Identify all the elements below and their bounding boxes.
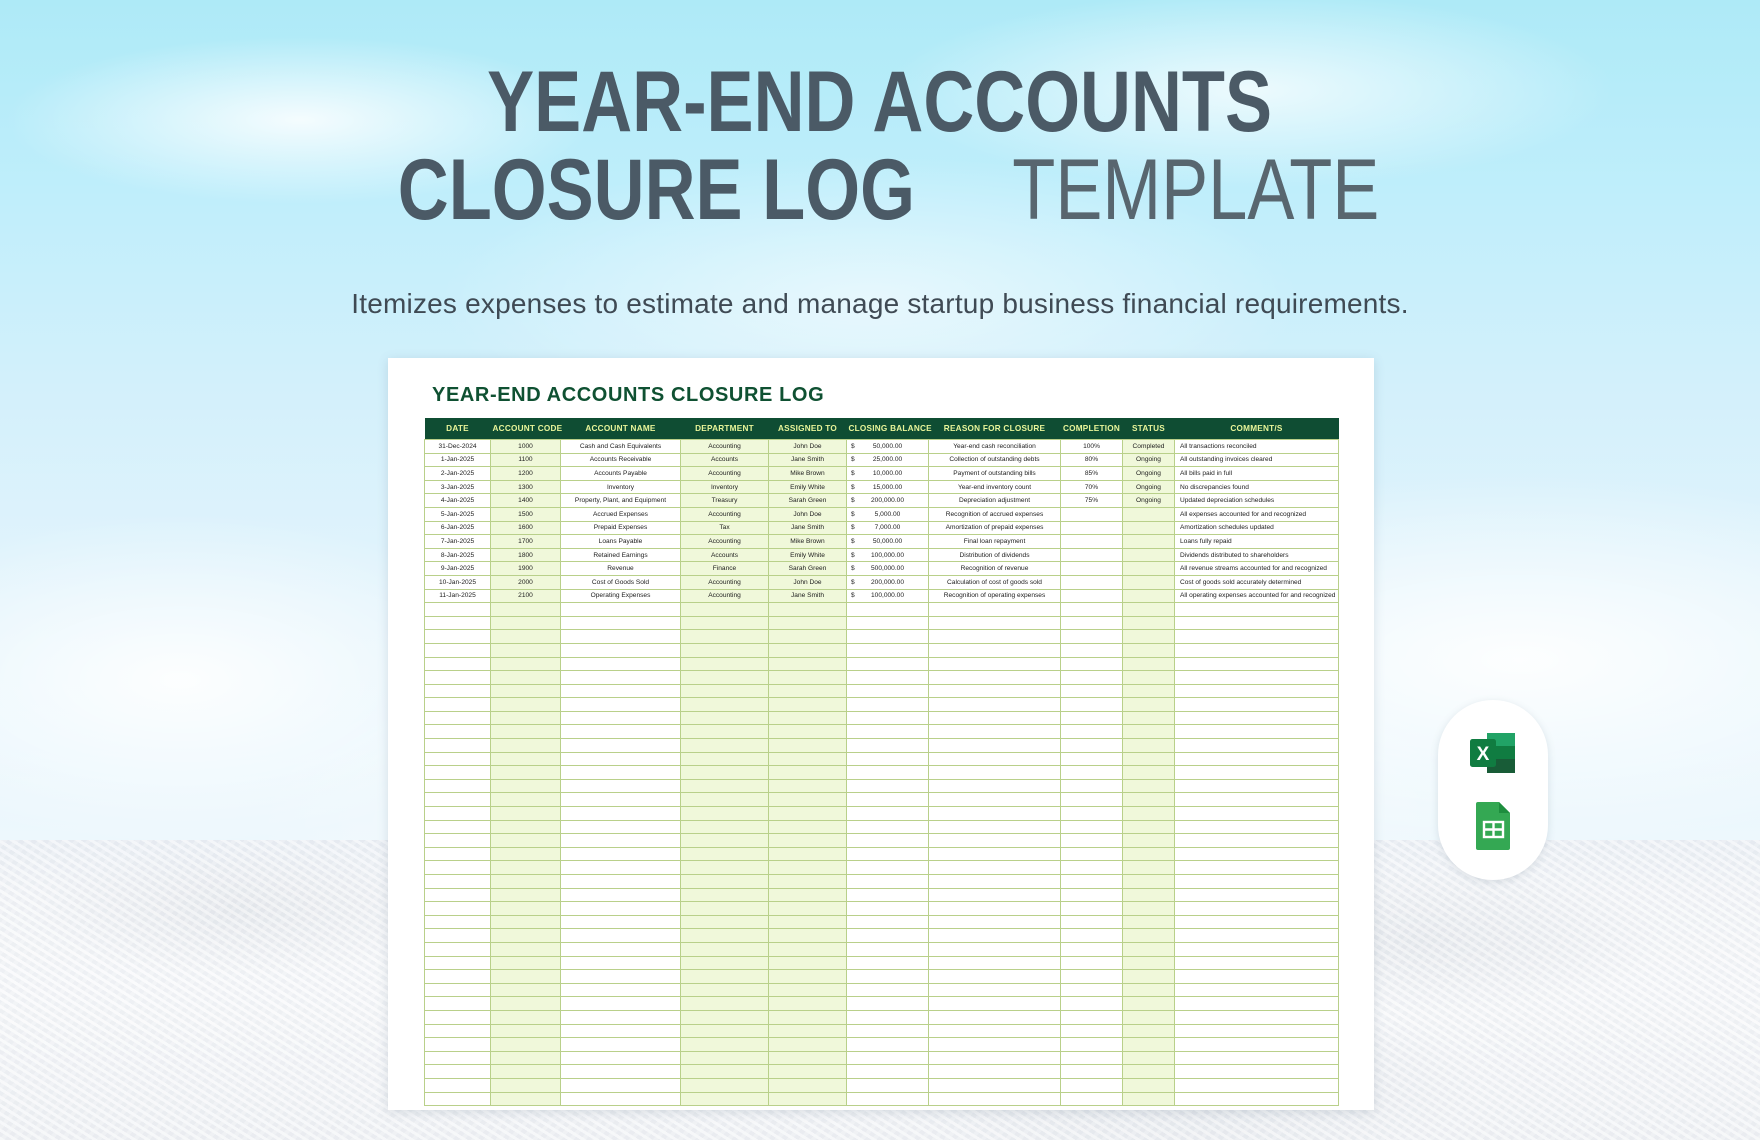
cell-empty	[847, 793, 929, 807]
cell-empty	[681, 956, 769, 970]
cell-closing-balance: $50,000.00	[847, 535, 929, 549]
cell-empty	[929, 834, 1061, 848]
cell-account-name: Accounts Receivable	[561, 453, 681, 467]
cell-reason: Recognition of operating expenses	[929, 589, 1061, 603]
cell-empty	[681, 1010, 769, 1024]
column-header-assigned-to: ASSIGNED TO	[769, 418, 847, 440]
cell-empty	[425, 956, 491, 970]
cell-empty	[425, 888, 491, 902]
currency-symbol: $	[851, 470, 855, 477]
cell-empty	[1061, 942, 1123, 956]
cell-empty	[491, 739, 561, 753]
cell-empty	[1175, 616, 1339, 630]
cell-empty	[681, 1038, 769, 1052]
cell-empty	[1175, 970, 1339, 984]
cell-empty	[425, 902, 491, 916]
cell-reason: Amortization of prepaid expenses	[929, 521, 1061, 535]
cell-empty	[1123, 820, 1175, 834]
cell-department: Tax	[681, 521, 769, 535]
cell-empty	[1175, 861, 1339, 875]
cell-empty	[929, 752, 1061, 766]
cell-empty	[561, 752, 681, 766]
cell-empty	[929, 1078, 1061, 1092]
cell-empty	[1175, 902, 1339, 916]
cell-empty	[491, 671, 561, 685]
table-row: 4-Jan-20251400Property, Plant, and Equip…	[425, 494, 1339, 508]
table-row-empty	[425, 875, 1339, 889]
cell-empty	[769, 766, 847, 780]
cell-empty	[425, 1051, 491, 1065]
table-row-empty	[425, 698, 1339, 712]
cell-status	[1123, 548, 1175, 562]
cell-empty	[561, 1065, 681, 1079]
cell-empty	[847, 616, 929, 630]
cell-empty	[769, 820, 847, 834]
cell-empty	[847, 929, 929, 943]
cell-empty	[681, 875, 769, 889]
cell-empty	[929, 603, 1061, 617]
cell-empty	[425, 725, 491, 739]
cell-empty	[491, 929, 561, 943]
cell-empty	[561, 616, 681, 630]
cell-empty	[681, 834, 769, 848]
cell-account-code: 1900	[491, 562, 561, 576]
cell-empty	[1175, 834, 1339, 848]
cell-department: Treasury	[681, 494, 769, 508]
cell-empty	[1061, 834, 1123, 848]
cell-account-name: Cost of Goods Sold	[561, 575, 681, 589]
cell-empty	[1061, 603, 1123, 617]
cell-empty	[1061, 956, 1123, 970]
column-header-status: STATUS	[1123, 418, 1175, 440]
cell-empty	[491, 643, 561, 657]
cell-empty	[425, 793, 491, 807]
cell-assigned-to: John Doe	[769, 507, 847, 521]
cell-empty	[1123, 1065, 1175, 1079]
cell-empty	[1175, 603, 1339, 617]
cell-empty	[425, 711, 491, 725]
cell-empty	[1175, 1051, 1339, 1065]
page-title-primary: YEAR-END ACCOUNTS	[488, 58, 1273, 146]
table-row: 10-Jan-20252000Cost of Goods SoldAccount…	[425, 575, 1339, 589]
cell-empty	[769, 671, 847, 685]
cell-empty	[847, 970, 929, 984]
cell-empty	[681, 983, 769, 997]
cell-empty	[929, 1024, 1061, 1038]
cell-account-name: Cash and Cash Equivalents	[561, 440, 681, 454]
cell-account-code: 1300	[491, 480, 561, 494]
cell-account-name: Prepaid Expenses	[561, 521, 681, 535]
cell-empty	[1061, 875, 1123, 889]
cell-empty	[1123, 1010, 1175, 1024]
cell-empty	[491, 1024, 561, 1038]
cell-date: 9-Jan-2025	[425, 562, 491, 576]
cell-empty	[1061, 820, 1123, 834]
column-header-closing-balance: CLOSING BALANCE	[847, 418, 929, 440]
cell-completion: 70%	[1061, 480, 1123, 494]
currency-symbol: $	[851, 497, 855, 504]
cell-empty	[929, 711, 1061, 725]
cell-empty	[681, 1024, 769, 1038]
cell-empty	[491, 616, 561, 630]
cell-empty	[681, 793, 769, 807]
cell-empty	[1123, 997, 1175, 1011]
currency-symbol: $	[851, 524, 855, 531]
cell-empty	[1123, 834, 1175, 848]
cell-empty	[561, 847, 681, 861]
cell-empty	[769, 807, 847, 821]
cell-empty	[1123, 861, 1175, 875]
cell-empty	[561, 929, 681, 943]
cell-empty	[491, 684, 561, 698]
cell-empty	[425, 766, 491, 780]
cell-empty	[491, 997, 561, 1011]
cell-empty	[1175, 1092, 1339, 1106]
table-row-empty	[425, 888, 1339, 902]
cell-comment: Cost of goods sold accurately determined	[1175, 575, 1339, 589]
table-row-empty	[425, 630, 1339, 644]
cell-empty	[847, 1065, 929, 1079]
cell-empty	[561, 698, 681, 712]
cell-empty	[681, 711, 769, 725]
cell-comment: All expenses accounted for and recognize…	[1175, 507, 1339, 521]
cell-empty	[561, 888, 681, 902]
cell-empty	[681, 1065, 769, 1079]
cell-empty	[561, 875, 681, 889]
column-header-account-code: ACCOUNT CODE	[491, 418, 561, 440]
cell-status	[1123, 535, 1175, 549]
cell-empty	[1123, 1038, 1175, 1052]
cell-date: 7-Jan-2025	[425, 535, 491, 549]
cell-date: 10-Jan-2025	[425, 575, 491, 589]
cell-empty	[1123, 752, 1175, 766]
cell-empty	[929, 630, 1061, 644]
table-row-empty	[425, 942, 1339, 956]
cell-comment: Loans fully repaid	[1175, 535, 1339, 549]
cell-empty	[1061, 847, 1123, 861]
cell-empty	[491, 1078, 561, 1092]
cell-empty	[1123, 983, 1175, 997]
cell-empty	[425, 657, 491, 671]
cell-closing-balance: $200,000.00	[847, 575, 929, 589]
cell-empty	[1175, 820, 1339, 834]
cell-account-code: 1600	[491, 521, 561, 535]
cell-empty	[1061, 1010, 1123, 1024]
cell-empty	[847, 1078, 929, 1092]
cell-date: 3-Jan-2025	[425, 480, 491, 494]
cell-empty	[681, 643, 769, 657]
table-row-empty	[425, 1038, 1339, 1052]
cell-empty	[491, 915, 561, 929]
cell-empty	[561, 983, 681, 997]
cell-empty	[1123, 1024, 1175, 1038]
cell-empty	[491, 630, 561, 644]
cell-empty	[769, 684, 847, 698]
cell-empty	[561, 603, 681, 617]
cell-empty	[769, 1038, 847, 1052]
cell-empty	[1061, 915, 1123, 929]
cell-empty	[491, 1010, 561, 1024]
cell-empty	[1175, 888, 1339, 902]
table-body: 31-Dec-20241000Cash and Cash Equivalents…	[425, 440, 1339, 1106]
cell-empty	[425, 671, 491, 685]
cell-empty	[1175, 915, 1339, 929]
cell-empty	[769, 875, 847, 889]
cell-empty	[491, 1038, 561, 1052]
cell-empty	[1123, 657, 1175, 671]
cell-empty	[561, 684, 681, 698]
cell-empty	[769, 970, 847, 984]
cell-empty	[561, 779, 681, 793]
cell-status: Ongoing	[1123, 467, 1175, 481]
cell-empty	[1123, 875, 1175, 889]
cell-empty	[769, 929, 847, 943]
cell-empty	[491, 834, 561, 848]
cell-empty	[769, 616, 847, 630]
cell-empty	[1175, 1065, 1339, 1079]
cell-empty	[681, 942, 769, 956]
cell-empty	[491, 902, 561, 916]
cell-empty	[681, 603, 769, 617]
cell-empty	[929, 997, 1061, 1011]
cell-empty	[1123, 671, 1175, 685]
cell-empty	[491, 711, 561, 725]
cell-empty	[847, 942, 929, 956]
cell-completion: 80%	[1061, 453, 1123, 467]
table-row-empty	[425, 1051, 1339, 1065]
cell-empty	[929, 1051, 1061, 1065]
cell-completion	[1061, 589, 1123, 603]
cell-account-code: 1400	[491, 494, 561, 508]
cell-empty	[681, 997, 769, 1011]
table-row-empty	[425, 603, 1339, 617]
cell-account-name: Operating Expenses	[561, 589, 681, 603]
cell-empty	[847, 603, 929, 617]
cell-empty	[1123, 1078, 1175, 1092]
table-row-empty	[425, 807, 1339, 821]
table-row-empty	[425, 657, 1339, 671]
cell-empty	[1175, 725, 1339, 739]
cell-comment: Dividends distributed to shareholders	[1175, 548, 1339, 562]
cell-empty	[929, 766, 1061, 780]
cell-empty	[1061, 1024, 1123, 1038]
cell-empty	[847, 915, 929, 929]
cell-empty	[1175, 997, 1339, 1011]
cell-empty	[847, 807, 929, 821]
cell-empty	[769, 793, 847, 807]
cell-date: 4-Jan-2025	[425, 494, 491, 508]
table-row-empty	[425, 1010, 1339, 1024]
cell-status	[1123, 575, 1175, 589]
cell-empty	[1061, 739, 1123, 753]
cell-empty	[425, 698, 491, 712]
table-row-empty	[425, 1078, 1339, 1092]
cell-empty	[1123, 739, 1175, 753]
cell-comment: Updated depreciation schedules	[1175, 494, 1339, 508]
cell-date: 8-Jan-2025	[425, 548, 491, 562]
cell-empty	[561, 834, 681, 848]
cell-empty	[929, 915, 1061, 929]
cell-empty	[425, 820, 491, 834]
cell-empty	[769, 861, 847, 875]
cell-empty	[561, 1092, 681, 1106]
table-row-empty	[425, 861, 1339, 875]
cell-empty	[847, 684, 929, 698]
cell-comment: All operating expenses accounted for and…	[1175, 589, 1339, 603]
page-subtitle: Itemizes expenses to estimate and manage…	[0, 288, 1760, 320]
cell-empty	[1061, 997, 1123, 1011]
cell-empty	[425, 983, 491, 997]
cell-empty	[929, 779, 1061, 793]
cell-reason: Distribution of dividends	[929, 548, 1061, 562]
svg-text:X: X	[1477, 744, 1490, 765]
cell-empty	[561, 902, 681, 916]
cell-empty	[425, 942, 491, 956]
cell-reason: Recognition of revenue	[929, 562, 1061, 576]
cell-empty	[1061, 779, 1123, 793]
cell-empty	[769, 630, 847, 644]
cell-empty	[847, 1051, 929, 1065]
cell-empty	[929, 929, 1061, 943]
cell-account-code: 1500	[491, 507, 561, 521]
cell-empty	[847, 779, 929, 793]
table-row: 3-Jan-20251300InventoryInventoryEmily Wh…	[425, 480, 1339, 494]
cell-empty	[1061, 1078, 1123, 1092]
cell-empty	[681, 970, 769, 984]
cell-department: Accounting	[681, 507, 769, 521]
cell-comment: All revenue streams accounted for and re…	[1175, 562, 1339, 576]
cell-empty	[425, 875, 491, 889]
cell-department: Accounts	[681, 548, 769, 562]
currency-symbol: $	[851, 511, 855, 518]
cell-empty	[491, 861, 561, 875]
table-row-empty	[425, 671, 1339, 685]
cell-empty	[425, 630, 491, 644]
cell-empty	[1061, 1038, 1123, 1052]
currency-symbol: $	[851, 443, 855, 450]
cell-empty	[425, 915, 491, 929]
cell-completion	[1061, 562, 1123, 576]
table-row-empty	[425, 1065, 1339, 1079]
cell-empty	[769, 1078, 847, 1092]
cell-closing-balance: $100,000.00	[847, 548, 929, 562]
table-row-empty	[425, 711, 1339, 725]
cell-empty	[847, 983, 929, 997]
cell-closing-balance: $5,000.00	[847, 507, 929, 521]
cell-empty	[425, 752, 491, 766]
cell-date: 6-Jan-2025	[425, 521, 491, 535]
cell-empty	[1061, 1051, 1123, 1065]
cell-empty	[491, 793, 561, 807]
cell-empty	[847, 752, 929, 766]
cell-empty	[769, 888, 847, 902]
currency-symbol: $	[851, 538, 855, 545]
cell-empty	[561, 711, 681, 725]
cell-empty	[1123, 766, 1175, 780]
cell-date: 1-Jan-2025	[425, 453, 491, 467]
table-row: 9-Jan-20251900RevenueFinanceSarah Green$…	[425, 562, 1339, 576]
cell-department: Finance	[681, 562, 769, 576]
cell-empty	[1175, 956, 1339, 970]
cell-empty	[561, 942, 681, 956]
cell-empty	[561, 861, 681, 875]
cell-empty	[847, 1010, 929, 1024]
cell-closing-balance: $500,000.00	[847, 562, 929, 576]
table-row: 6-Jan-20251600Prepaid ExpensesTaxJane Sm…	[425, 521, 1339, 535]
cell-empty	[1123, 698, 1175, 712]
cell-empty	[1123, 630, 1175, 644]
google-sheets-icon[interactable]	[1465, 797, 1521, 853]
cell-empty	[769, 779, 847, 793]
cell-empty	[769, 643, 847, 657]
table-row: 2-Jan-20251200Accounts PayableAccounting…	[425, 467, 1339, 481]
cell-empty	[491, 807, 561, 821]
cell-department: Inventory	[681, 480, 769, 494]
cell-empty	[425, 847, 491, 861]
table-row: 7-Jan-20251700Loans PayableAccountingMik…	[425, 535, 1339, 549]
table-row-empty	[425, 1024, 1339, 1038]
cell-account-name: Property, Plant, and Equipment	[561, 494, 681, 508]
cell-empty	[847, 1092, 929, 1106]
cell-empty	[847, 902, 929, 916]
cell-account-code: 1200	[491, 467, 561, 481]
table-row-empty	[425, 793, 1339, 807]
cell-assigned-to: Mike Brown	[769, 535, 847, 549]
cell-empty	[681, 820, 769, 834]
cell-empty	[681, 657, 769, 671]
cell-empty	[929, 902, 1061, 916]
table-row-empty	[425, 929, 1339, 943]
page-header: YEAR-END ACCOUNTS CLOSURE LOGTEMPLATE	[0, 58, 1760, 234]
cell-comment: Amortization schedules updated	[1175, 521, 1339, 535]
currency-symbol: $	[851, 565, 855, 572]
cell-completion: 100%	[1061, 440, 1123, 454]
cell-empty	[681, 1092, 769, 1106]
cell-empty	[1175, 671, 1339, 685]
cell-empty	[1123, 956, 1175, 970]
cell-status	[1123, 589, 1175, 603]
cell-empty	[681, 739, 769, 753]
cell-empty	[1123, 643, 1175, 657]
cell-empty	[681, 725, 769, 739]
cell-closing-balance: $25,000.00	[847, 453, 929, 467]
cell-status	[1123, 562, 1175, 576]
cell-empty	[681, 630, 769, 644]
cell-empty	[1061, 970, 1123, 984]
cell-empty	[1175, 847, 1339, 861]
currency-symbol: $	[851, 592, 855, 599]
cell-empty	[561, 630, 681, 644]
excel-icon[interactable]: X	[1465, 727, 1521, 783]
cell-empty	[769, 1092, 847, 1106]
cell-empty	[1175, 875, 1339, 889]
cell-empty	[929, 847, 1061, 861]
cell-empty	[1061, 888, 1123, 902]
cell-empty	[425, 1092, 491, 1106]
cell-completion: 85%	[1061, 467, 1123, 481]
cell-empty	[491, 942, 561, 956]
page-title-line-2: CLOSURE LOGTEMPLATE	[0, 146, 1760, 234]
cell-empty	[561, 1038, 681, 1052]
cell-empty	[1123, 929, 1175, 943]
cell-empty	[1061, 807, 1123, 821]
cell-empty	[769, 657, 847, 671]
column-header-completion: COMPLETION	[1061, 418, 1123, 440]
cell-department: Accounting	[681, 589, 769, 603]
cell-closing-balance: $7,000.00	[847, 521, 929, 535]
cell-empty	[425, 861, 491, 875]
cell-empty	[681, 684, 769, 698]
